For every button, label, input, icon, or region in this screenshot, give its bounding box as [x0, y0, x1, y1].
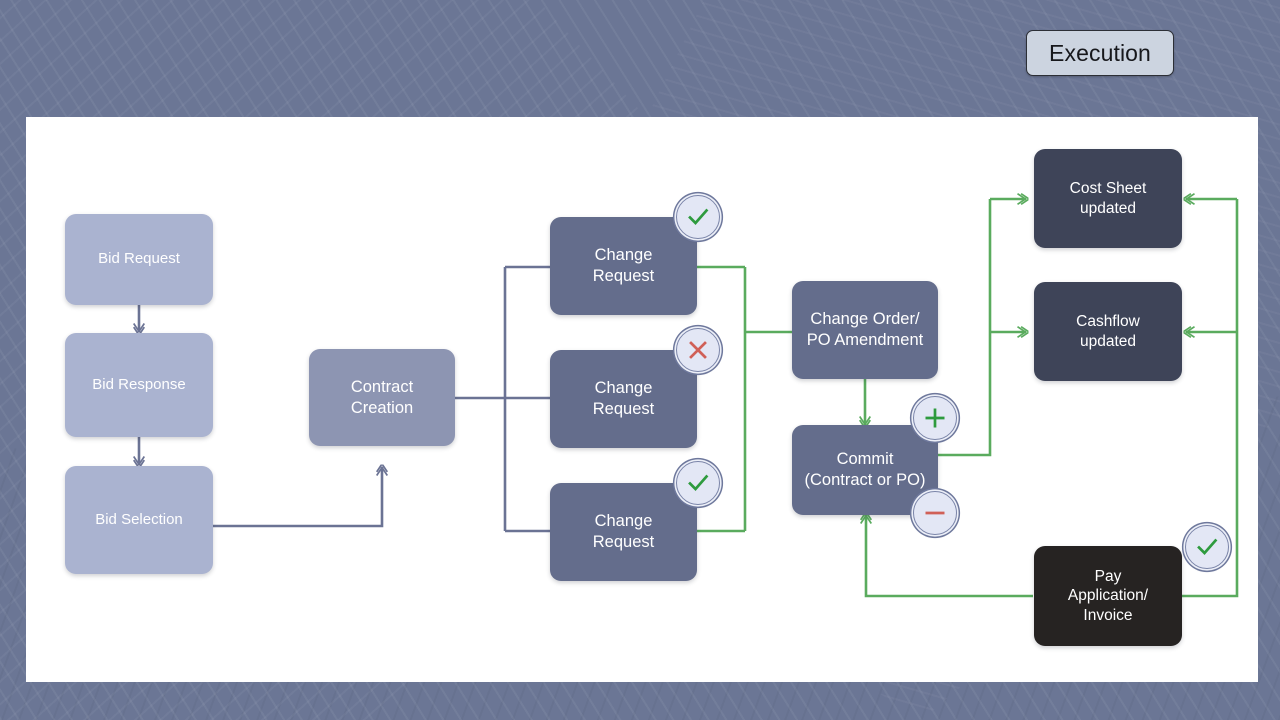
- minus-glyph: [922, 500, 948, 526]
- node-change-request-2-label: Change Request: [593, 378, 654, 419]
- check-glyph: [1194, 534, 1220, 560]
- diagram-canvas: Bid Request Bid Response Bid Selection C…: [26, 117, 1258, 682]
- node-change-request-3-label: Change Request: [593, 511, 654, 552]
- minus-circle-icon: [913, 491, 957, 535]
- node-bid-request-label: Bid Request: [98, 250, 180, 269]
- node-change-request-3[interactable]: Change Request: [550, 483, 697, 581]
- node-commit-label: Commit (Contract or PO): [804, 449, 925, 490]
- plus-circle-icon: [913, 396, 957, 440]
- edge-bid-selection-to-contract-creation: [213, 467, 382, 526]
- node-pay-application-invoice-label: Pay Application/ Invoice: [1068, 567, 1148, 625]
- node-contract-creation-label: Contract Creation: [351, 377, 413, 418]
- node-change-order[interactable]: Change Order/ PO Amendment: [792, 281, 938, 379]
- node-change-request-2[interactable]: Change Request: [550, 350, 697, 448]
- plus-glyph: [922, 405, 948, 431]
- check-circle-icon: [676, 195, 720, 239]
- node-change-request-1[interactable]: Change Request: [550, 217, 697, 315]
- node-bid-request[interactable]: Bid Request: [65, 214, 213, 305]
- check-circle-icon: [676, 461, 720, 505]
- check-glyph: [685, 470, 711, 496]
- node-change-request-1-label: Change Request: [593, 245, 654, 286]
- node-pay-application-invoice[interactable]: Pay Application/ Invoice: [1034, 546, 1182, 646]
- check-glyph: [685, 204, 711, 230]
- execution-title-label: Execution: [1049, 40, 1151, 67]
- execution-title-chip: Execution: [1026, 30, 1174, 76]
- cross-glyph: [685, 337, 711, 363]
- cross-circle-icon: [676, 328, 720, 372]
- node-cashflow-updated[interactable]: Cashflow updated: [1034, 282, 1182, 381]
- node-bid-response-label: Bid Response: [92, 376, 185, 395]
- screenshot-root: Execution: [0, 0, 1280, 720]
- node-bid-selection[interactable]: Bid Selection: [65, 466, 213, 574]
- node-change-order-label: Change Order/ PO Amendment: [807, 309, 923, 350]
- check-circle-icon: [1185, 525, 1229, 569]
- node-bid-selection-label: Bid Selection: [95, 511, 183, 530]
- node-cost-sheet-updated[interactable]: Cost Sheet updated: [1034, 149, 1182, 248]
- node-contract-creation[interactable]: Contract Creation: [309, 349, 455, 446]
- node-cost-sheet-updated-label: Cost Sheet updated: [1070, 179, 1147, 218]
- node-cashflow-updated-label: Cashflow updated: [1076, 312, 1140, 351]
- node-bid-response[interactable]: Bid Response: [65, 333, 213, 437]
